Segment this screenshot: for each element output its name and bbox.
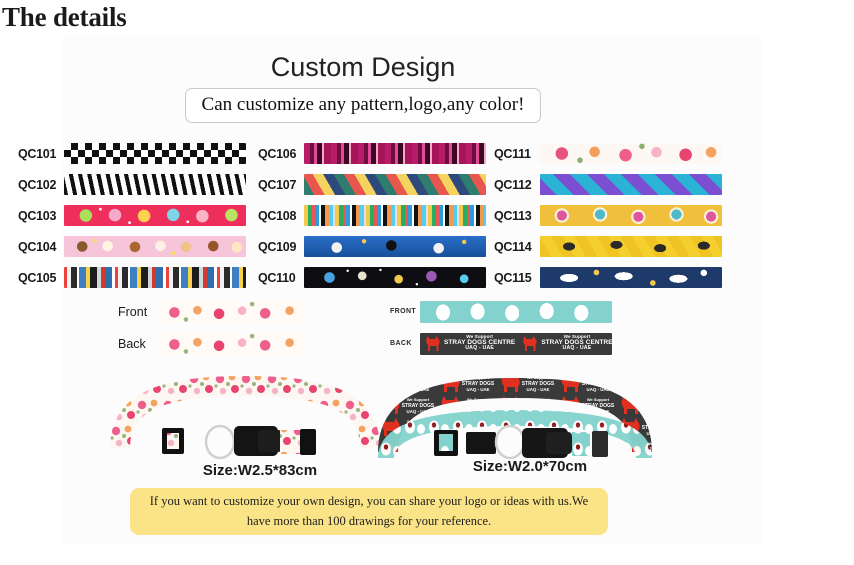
swatch-code: QC112 bbox=[494, 178, 540, 192]
swatch-code: QC102 bbox=[18, 178, 64, 192]
swatch-preview-qc110[interactable] bbox=[304, 267, 486, 288]
collar-photo-floral bbox=[110, 372, 380, 464]
swatch-code: QC107 bbox=[258, 178, 304, 192]
swatch-column-2: QC106 QC107 QC108 QC109 QC110 bbox=[258, 138, 486, 293]
swatch-preview-qc106[interactable] bbox=[304, 143, 486, 164]
strap-unit: We Support STRAY DOGS CENTRE UAQ - UAE bbox=[517, 335, 612, 352]
swatch-column-3: QC111 QC112 QC113 QC114 QC115 bbox=[494, 138, 722, 293]
swatch-row[interactable]: QC104 bbox=[18, 231, 246, 262]
swatch-preview-qc109[interactable] bbox=[304, 236, 486, 257]
swatch-row[interactable]: QC109 bbox=[258, 231, 486, 262]
details-page: The details Custom Design Can customize … bbox=[0, 0, 854, 565]
swatch-code: QC105 bbox=[18, 271, 64, 285]
collar-floral-illustration bbox=[110, 372, 380, 464]
swatch-preview-qc102[interactable] bbox=[64, 174, 246, 195]
swatch-code: QC101 bbox=[18, 147, 64, 161]
size-label-left: Size:W2.5*83cm bbox=[150, 462, 370, 479]
swatch-row[interactable]: QC105 bbox=[18, 262, 246, 293]
section-heading-text: Custom Design bbox=[271, 52, 456, 83]
swatch-code: QC110 bbox=[258, 271, 304, 285]
floral-front-back-preview: Front Back bbox=[118, 298, 304, 362]
dog-icon bbox=[522, 335, 538, 352]
strap-text-block: We Support STRAY DOGS CENTRE UAQ - UAE bbox=[541, 335, 612, 352]
swatch-row[interactable]: QC114 bbox=[494, 231, 722, 262]
collar-stray-dogs-illustration: We Support STRAY DOGS UAQ - UAE bbox=[378, 372, 654, 464]
back-preview-row: BACK We Support STRAY DOGS CENTRE UAQ - … bbox=[390, 330, 612, 357]
front-strip-floral bbox=[160, 301, 304, 323]
swatch-preview-qc115[interactable] bbox=[540, 267, 722, 288]
swatch-preview-qc112[interactable] bbox=[540, 174, 722, 195]
swatch-row[interactable]: QC108 bbox=[258, 200, 486, 231]
swatch-preview-qc101[interactable] bbox=[64, 143, 246, 164]
swatch-row[interactable]: QC102 bbox=[18, 169, 246, 200]
front-preview-row: Front bbox=[118, 298, 304, 325]
stray-dogs-front-back-preview: FRONT BACK We Support STRAY DOGS CENTRE … bbox=[390, 298, 612, 362]
tagline-container: Can customize any pattern,logo,any color… bbox=[0, 88, 854, 123]
swatch-column-1: QC101 QC102 QC103 QC104 QC105 bbox=[18, 138, 246, 293]
customization-note-text: If you want to customize your own design… bbox=[144, 492, 594, 531]
front-preview-row: FRONT bbox=[390, 298, 612, 325]
swatch-row[interactable]: QC101 bbox=[18, 138, 246, 169]
page-title: The details bbox=[2, 2, 127, 33]
swatch-row[interactable]: QC112 bbox=[494, 169, 722, 200]
swatch-preview-qc108[interactable] bbox=[304, 205, 486, 226]
strap-line-3: UAQ - UAE bbox=[444, 346, 515, 351]
back-preview-row: Back bbox=[118, 330, 304, 357]
swatch-row[interactable]: QC113 bbox=[494, 200, 722, 231]
strap-text-block: We Support STRAY DOGS CENTRE UAQ - UAE bbox=[444, 335, 515, 352]
customization-note: If you want to customize your own design… bbox=[130, 488, 608, 535]
swatch-preview-qc105[interactable] bbox=[64, 267, 246, 288]
swatch-code: QC109 bbox=[258, 240, 304, 254]
strap-unit: We Support STRAY DOGS CENTRE UAQ - UAE bbox=[420, 335, 517, 352]
swatch-preview-qc114[interactable] bbox=[540, 236, 722, 257]
swatch-preview-qc113[interactable] bbox=[540, 205, 722, 226]
tagline-box: Can customize any pattern,logo,any color… bbox=[185, 88, 542, 123]
swatch-code: QC104 bbox=[18, 240, 64, 254]
section-heading: Custom Design bbox=[0, 52, 854, 83]
back-strip-floral bbox=[160, 333, 304, 355]
swatch-row[interactable]: QC111 bbox=[494, 138, 722, 169]
front-strip-teal-dogs bbox=[420, 301, 612, 323]
swatch-row[interactable]: QC103 bbox=[18, 200, 246, 231]
back-label: BACK bbox=[390, 340, 420, 347]
swatch-code: QC114 bbox=[494, 240, 540, 254]
swatch-code: QC106 bbox=[258, 147, 304, 161]
swatch-preview-qc111[interactable] bbox=[540, 143, 722, 164]
swatch-row[interactable]: QC107 bbox=[258, 169, 486, 200]
swatch-code: QC111 bbox=[494, 147, 540, 161]
strap-line-3: UAQ - UAE bbox=[541, 346, 612, 351]
swatch-code: QC108 bbox=[258, 209, 304, 223]
swatch-code: QC103 bbox=[18, 209, 64, 223]
swatch-preview-qc103[interactable] bbox=[64, 205, 246, 226]
back-strip-stray-dogs: We Support STRAY DOGS CENTRE UAQ - UAE W… bbox=[420, 333, 612, 355]
size-label-right: Size:W2.0*70cm bbox=[420, 458, 640, 475]
swatch-preview-qc107[interactable] bbox=[304, 174, 486, 195]
swatch-row[interactable]: QC110 bbox=[258, 262, 486, 293]
swatch-code: QC115 bbox=[494, 271, 540, 285]
dog-icon bbox=[425, 335, 441, 352]
swatch-row[interactable]: QC115 bbox=[494, 262, 722, 293]
front-label: FRONT bbox=[390, 308, 420, 315]
swatch-preview-qc104[interactable] bbox=[64, 236, 246, 257]
pattern-swatch-grid: QC101 QC102 QC103 QC104 QC105 QC10 bbox=[0, 138, 854, 290]
swatch-code: QC113 bbox=[494, 209, 540, 223]
swatch-row[interactable]: QC106 bbox=[258, 138, 486, 169]
back-label: Back bbox=[118, 337, 160, 351]
front-label: Front bbox=[118, 305, 160, 319]
collar-photo-stray-dogs: We Support STRAY DOGS UAQ - UAE bbox=[378, 372, 654, 464]
